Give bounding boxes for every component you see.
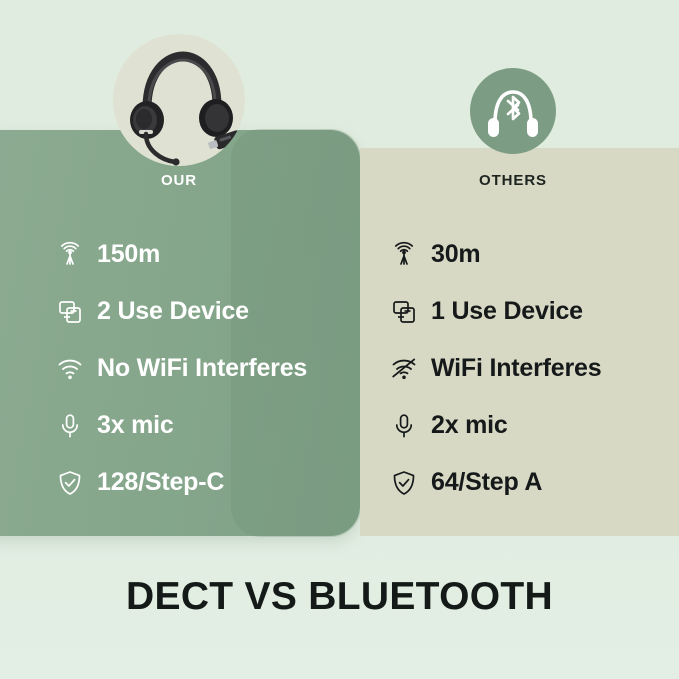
our-feature-list: 150m 2 Use Device <box>54 226 354 511</box>
signal-tower-icon <box>388 239 420 271</box>
feature-label: No WiFi Interferes <box>97 354 307 383</box>
our-badge <box>113 34 245 166</box>
shield-check-icon <box>388 467 420 499</box>
bluetooth-headphones-icon <box>470 68 556 154</box>
feature-row: WiFi Interferes <box>388 340 668 397</box>
feature-row: 150m <box>54 226 354 283</box>
feature-row: 128/Step-C <box>54 454 354 511</box>
feature-row: 30m <box>388 226 668 283</box>
shield-check-icon <box>54 467 86 499</box>
our-column-label: OUR <box>113 172 245 189</box>
wifi-icon <box>54 353 86 385</box>
feature-row: 2x mic <box>388 397 668 454</box>
microphone-icon <box>388 410 420 442</box>
feature-label: 64/Step A <box>431 468 542 497</box>
feature-label: 30m <box>431 240 480 269</box>
microphone-icon <box>54 410 86 442</box>
feature-label: 128/Step-C <box>97 468 224 497</box>
feature-label: 150m <box>97 240 160 269</box>
comparison-infographic: OUR OTHERS 150m <box>0 0 679 679</box>
feature-label: 2x mic <box>431 411 508 440</box>
feature-row: No WiFi Interferes <box>54 340 354 397</box>
multi-device-icon <box>54 296 86 328</box>
feature-label: WiFi Interferes <box>431 354 601 383</box>
multi-device-icon <box>388 296 420 328</box>
feature-row: 3x mic <box>54 397 354 454</box>
others-column-label: OTHERS <box>447 172 579 189</box>
headset-with-usb-dongle-icon <box>113 34 245 166</box>
feature-label: 2 Use Device <box>97 297 249 326</box>
others-feature-list: 30m 1 Use Device <box>388 226 668 511</box>
feature-row: 64/Step A <box>388 454 668 511</box>
feature-label: 3x mic <box>97 411 174 440</box>
page-title: DECT VS BLUETOOTH <box>0 575 679 619</box>
feature-row: 2 Use Device <box>54 283 354 340</box>
feature-label: 1 Use Device <box>431 297 583 326</box>
feature-row: 1 Use Device <box>388 283 668 340</box>
signal-tower-icon <box>54 239 86 271</box>
others-badge <box>470 68 556 154</box>
wifi-off-icon <box>388 353 420 385</box>
